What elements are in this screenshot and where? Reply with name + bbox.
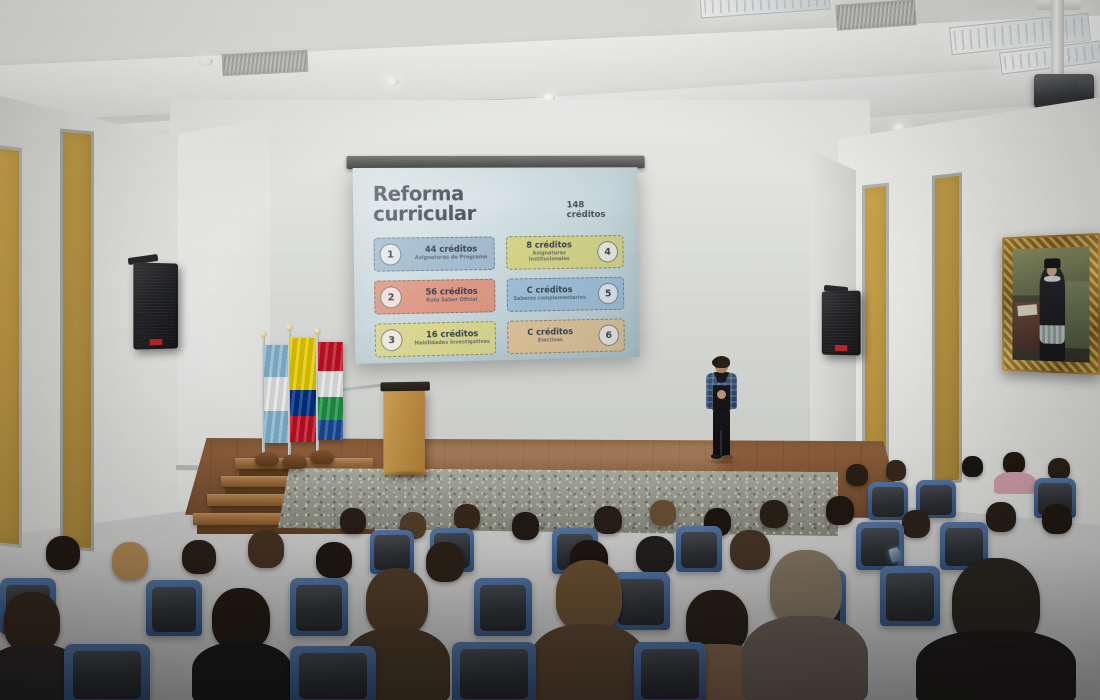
- slide-item-number: 5: [598, 283, 619, 305]
- slide-item-desc: Ruta Saber Oficial: [413, 298, 491, 305]
- audience-seat[interactable]: [634, 642, 706, 700]
- flag-stripe-red: [318, 342, 343, 371]
- audience-head: [556, 560, 622, 632]
- portrait-hat: [1044, 258, 1061, 269]
- audience-shoulders: [916, 630, 1076, 700]
- audience-shoulders: [192, 642, 292, 700]
- air-vent: [221, 50, 308, 76]
- slide-items-grid: 1 44 créditos Asignaturas de Programa 4 …: [373, 235, 624, 357]
- portrait-lace-surplice: [1039, 325, 1065, 345]
- slide-header: Reforma curricular 148 créditos: [373, 183, 623, 224]
- audience-seat[interactable]: [452, 642, 536, 700]
- audience-head: [340, 508, 366, 534]
- slide-item-body: C créditos Electivas: [508, 328, 592, 346]
- slide-item-1: 1 44 créditos Asignaturas de Programa: [373, 236, 494, 271]
- audience-area: [0, 430, 1100, 700]
- audience-head: [846, 464, 868, 486]
- auditorium-scene: Reforma curricular 148 créditos 1 44 cré…: [0, 0, 1100, 700]
- slide-item-desc: Habilidades investigativas: [413, 340, 491, 348]
- audience-head: [962, 456, 983, 477]
- audience-head: [986, 502, 1016, 532]
- flag-stripe-green: [318, 397, 343, 421]
- audience-head: [426, 542, 464, 582]
- slide-item-3: 3 16 créditos Habilidades investigativas: [375, 321, 496, 357]
- slide-item-6: 6 C créditos Electivas: [507, 318, 625, 354]
- slide-item-2: 2 56 créditos Ruta Saber Oficial: [374, 279, 495, 315]
- audience-head: [512, 512, 539, 540]
- presenter-hands: [717, 390, 726, 399]
- audience-shoulders: [530, 624, 646, 700]
- audience-seat[interactable]: [676, 526, 722, 572]
- audience-head: [316, 542, 352, 578]
- portrait-collar: [1044, 276, 1061, 282]
- framed-portrait: [1002, 233, 1100, 375]
- slide-item-desc: Saberes complementarios: [512, 296, 588, 303]
- projector-side-panel: [1077, 80, 1093, 100]
- audience-head: [46, 536, 80, 570]
- audience-seat[interactable]: [856, 522, 904, 570]
- podium-top-surface: [380, 382, 429, 392]
- recessed-downlight: [199, 57, 213, 66]
- portrait-canvas: [1012, 246, 1089, 362]
- slide-item-desc: Asignaturas Institucionales: [511, 251, 587, 263]
- audience-shoulders: [742, 616, 868, 700]
- jbl-logo-icon: [835, 345, 848, 351]
- slide-subtitle: 148 créditos: [566, 200, 623, 222]
- audience-seat[interactable]: [290, 646, 376, 700]
- slide-item-desc: Asignaturas de Programa: [412, 256, 490, 263]
- flag-finial: [286, 324, 293, 331]
- slide-item-number: 3: [381, 329, 403, 351]
- flag-stripe: [264, 345, 290, 377]
- audience-head: [636, 536, 674, 574]
- slide-item-5: 5 C créditos Saberes complementarios: [507, 277, 625, 312]
- speaker-left: [133, 262, 178, 349]
- audience-seat[interactable]: [880, 566, 940, 626]
- slide-item-body: 8 créditos Asignaturas Institucionales: [507, 241, 591, 264]
- audience-head: [1048, 458, 1070, 480]
- audience-head: [826, 496, 854, 525]
- flag-finial: [314, 328, 321, 335]
- jbl-logo-icon: [150, 339, 163, 345]
- audience-head: [594, 506, 622, 534]
- flag-finial: [260, 331, 267, 338]
- slide-item-number: 1: [379, 243, 401, 265]
- audience-head: [1042, 504, 1072, 534]
- flag-cloth: [290, 338, 317, 442]
- audience-head: [248, 530, 284, 568]
- audience-head: [4, 592, 60, 652]
- recessed-downlight: [385, 77, 399, 86]
- slide-item-number: 4: [597, 241, 618, 263]
- speaker-right: [822, 291, 861, 356]
- slide-item-number: 2: [380, 286, 402, 308]
- flag-cloth: [264, 345, 290, 443]
- ceiling-light-panel: [699, 0, 830, 19]
- slide-item-desc: Electivas: [512, 338, 588, 345]
- slide-item-body: C créditos Saberes complementarios: [508, 286, 592, 303]
- slide-item-body: 44 créditos Asignaturas de Programa: [408, 245, 494, 262]
- audience-head: [886, 460, 906, 481]
- audience-shoulders: [994, 472, 1036, 494]
- projector-mount-pole: [1051, 0, 1064, 80]
- slide-item-credits: 8 créditos: [511, 241, 587, 251]
- audience-head: [730, 530, 770, 570]
- audience-head: [182, 540, 216, 574]
- screen-surface: Reforma curricular 148 créditos 1 44 cré…: [353, 167, 640, 364]
- flag-stripe-yellow: [290, 338, 317, 390]
- flag-stripe: [264, 377, 290, 410]
- audience-head: [212, 588, 270, 650]
- slide-content: Reforma curricular 148 créditos 1 44 cré…: [353, 167, 640, 364]
- audience-seat[interactable]: [868, 482, 908, 520]
- audience-head: [902, 510, 930, 538]
- audience-seat[interactable]: [474, 578, 532, 636]
- slide-item-body: 16 créditos Habilidades investigativas: [409, 330, 495, 348]
- flag-stripe-white: [318, 371, 343, 396]
- audience-seat[interactable]: [64, 644, 150, 700]
- audience-head: [760, 500, 788, 528]
- flag-stripe-blue: [290, 390, 317, 416]
- audience-head: [454, 504, 480, 530]
- audience-head: [650, 500, 676, 526]
- audience-seat[interactable]: [146, 580, 202, 636]
- slide-item-4: 4 8 créditos Asignaturas Institucionales: [506, 235, 624, 270]
- slide-title: Reforma curricular: [373, 183, 561, 224]
- audience-head: [366, 568, 428, 636]
- presenter-hair-bun: [712, 359, 718, 366]
- audience-head: [1003, 452, 1025, 474]
- audience-head: [112, 542, 148, 580]
- projection-screen[interactable]: Reforma curricular 148 créditos 1 44 cré…: [353, 167, 640, 364]
- audience-seat[interactable]: [290, 578, 348, 636]
- portrait-book: [1017, 304, 1037, 316]
- slide-item-body: 56 créditos Ruta Saber Oficial: [409, 287, 495, 305]
- flag-cloth: [318, 342, 343, 440]
- slide-item-number: 6: [598, 324, 619, 346]
